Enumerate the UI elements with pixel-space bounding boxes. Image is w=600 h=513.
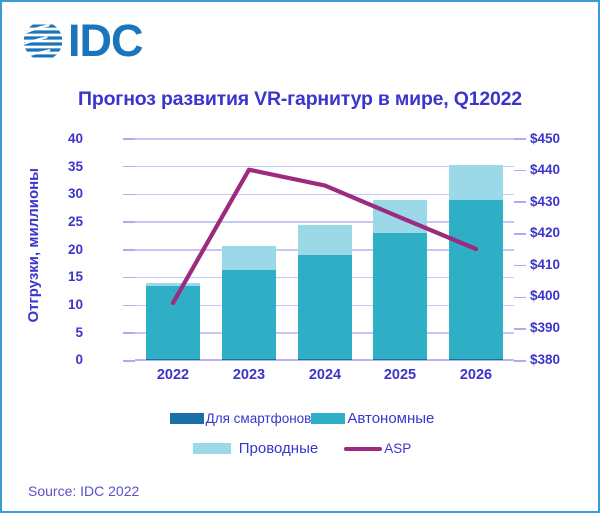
y-left-tickmark-0 (123, 360, 135, 362)
y-left-tickmark-30 (123, 194, 135, 196)
asp-line-path (173, 170, 476, 303)
legend-label-phone: Для смартфонов (206, 411, 312, 426)
plot-area: Отгрузки, миллионы 40 35 30 25 20 15 10 … (2, 122, 600, 400)
legend-item-standalone[interactable]: Автономные (311, 410, 434, 427)
x-label-2026: 2026 (438, 367, 514, 383)
y-left-tickmark-15 (123, 277, 135, 279)
x-label-2022: 2022 (135, 367, 211, 383)
y-right-tick-440: $440 (530, 163, 590, 177)
y-right-tick-450: $450 (530, 132, 590, 146)
y-right-tick-380: $380 (530, 353, 590, 367)
y-right-tickmark-430 (514, 201, 526, 203)
legend-label-standalone: Автономные (347, 410, 434, 427)
plot-canvas (135, 138, 514, 360)
idc-logo: IDC (20, 18, 143, 64)
chart-legend: Для смартфонов Автономные Проводные ASP (2, 410, 600, 470)
y-right-tickmark-420 (514, 233, 526, 235)
y-right-tick-410: $410 (530, 258, 590, 272)
x-label-2023: 2023 (211, 367, 287, 383)
source-note: Source: IDC 2022 (28, 483, 139, 499)
chart-card: IDC Прогноз развития VR-гарнитур в мире,… (0, 0, 600, 513)
legend-row-2: Проводные ASP (2, 440, 600, 457)
y-right-tickmark-410 (514, 265, 526, 267)
legend-item-phone[interactable]: Для смартфонов (170, 411, 312, 426)
y-left-tick-10: 10 (37, 298, 83, 312)
y-right-tick-430: $430 (530, 195, 590, 209)
y-right-tickmark-380 (514, 360, 526, 362)
y-left-tick-25: 25 (37, 215, 83, 229)
y-left-tickmark-20 (123, 249, 135, 251)
legend-label-asp: ASP (384, 441, 411, 456)
y-right-tick-420: $420 (530, 226, 590, 240)
y-left-tickmark-5 (123, 332, 135, 334)
legend-row-1: Для смартфонов Автономные (2, 410, 600, 427)
legend-swatch-phone-icon (170, 413, 204, 424)
x-label-2025: 2025 (362, 367, 438, 383)
idc-wordmark: IDC (68, 18, 143, 64)
page-title: Прогноз развития VR-гарнитур в мире, Q12… (2, 88, 598, 111)
legend-item-asp[interactable]: ASP (344, 441, 411, 456)
legend-label-wired: Проводные (239, 440, 318, 457)
y-left-tickmark-10 (123, 305, 135, 307)
y-right-tickmark-440 (514, 170, 526, 172)
y-left-tick-20: 20 (37, 243, 83, 257)
y-right-tickmark-450 (514, 138, 526, 140)
legend-swatch-standalone-icon (311, 413, 345, 424)
asp-line-series[interactable] (135, 138, 514, 360)
x-label-2024: 2024 (287, 367, 363, 383)
y-right-tickmark-400 (514, 297, 526, 299)
y-left-tickmark-40 (123, 138, 135, 140)
y-right-tick-400: $400 (530, 289, 590, 303)
y-left-tick-30: 30 (37, 187, 83, 201)
y-left-tick-0: 0 (37, 353, 83, 367)
y-left-tick-40: 40 (37, 132, 83, 146)
legend-swatch-asp-line-icon (344, 447, 382, 451)
y-left-tickmark-25 (123, 221, 135, 223)
y-right-tickmark-390 (514, 328, 526, 330)
y-left-tick-15: 15 (37, 270, 83, 284)
y-right-tick-390: $390 (530, 321, 590, 335)
idc-globe-icon (20, 18, 66, 64)
y-left-tickmark-35 (123, 166, 135, 168)
x-axis-labels: 2022 2023 2024 2025 2026 (135, 367, 514, 391)
legend-swatch-wired-icon (193, 443, 231, 454)
legend-item-wired[interactable]: Проводные (193, 440, 318, 457)
y-left-tick-5: 5 (37, 326, 83, 340)
y-left-tick-35: 35 (37, 160, 83, 174)
